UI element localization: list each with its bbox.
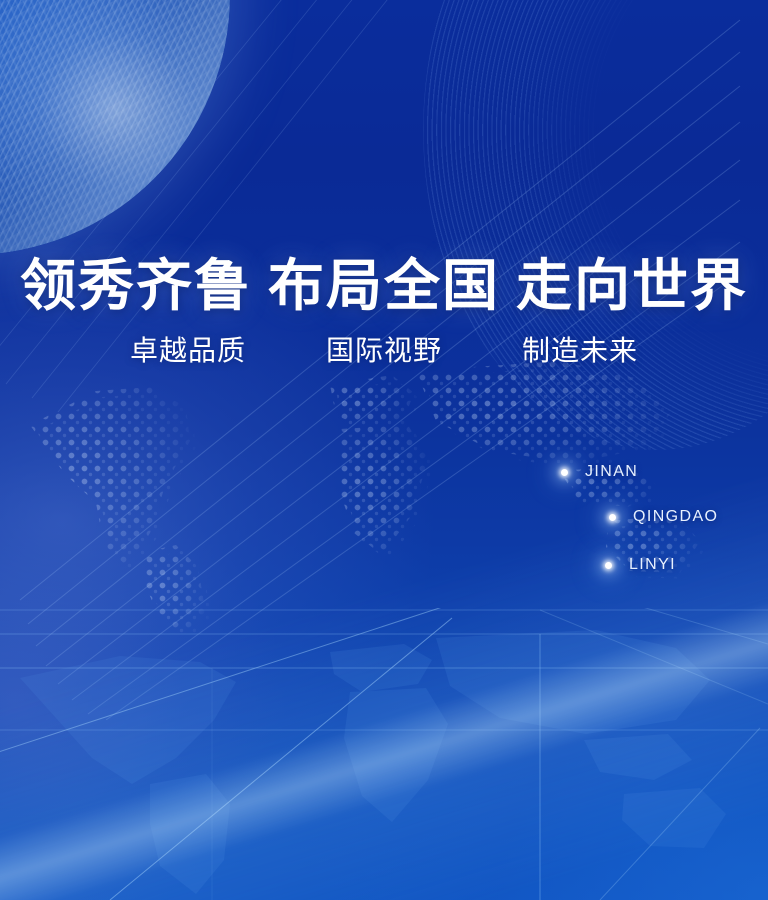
page-title: 领秀齐鲁 布局全国 走向世界 [0, 258, 768, 317]
headline-block: 领秀齐鲁 布局全国 走向世界 卓越品质 国际视野 制造未来 [0, 258, 768, 369]
perspective-grid-lines [0, 608, 768, 900]
subtitle-item-2: 国际视野 [326, 335, 442, 369]
map-pin-dot-icon [561, 469, 568, 476]
perspective-floor [0, 608, 768, 900]
city-marker-qingdao[interactable]: QINGDAO [609, 508, 718, 526]
subtitle: 卓越品质 国际视野 制造未来 [0, 335, 768, 369]
city-label-qingdao: QINGDAO [633, 508, 718, 526]
subtitle-item-3: 制造未来 [522, 335, 638, 369]
hero-banner: 领秀齐鲁 布局全国 走向世界 卓越品质 国际视野 制造未来 JINAN QING… [0, 0, 768, 900]
map-pin-dot-icon [609, 514, 616, 521]
city-label-jinan: JINAN [585, 463, 638, 481]
map-pin-dot-icon [605, 562, 612, 569]
city-label-linyi: LINYI [629, 556, 676, 574]
city-marker-jinan[interactable]: JINAN [561, 463, 638, 481]
subtitle-item-1: 卓越品质 [130, 335, 246, 369]
city-marker-linyi[interactable]: LINYI [605, 556, 676, 574]
